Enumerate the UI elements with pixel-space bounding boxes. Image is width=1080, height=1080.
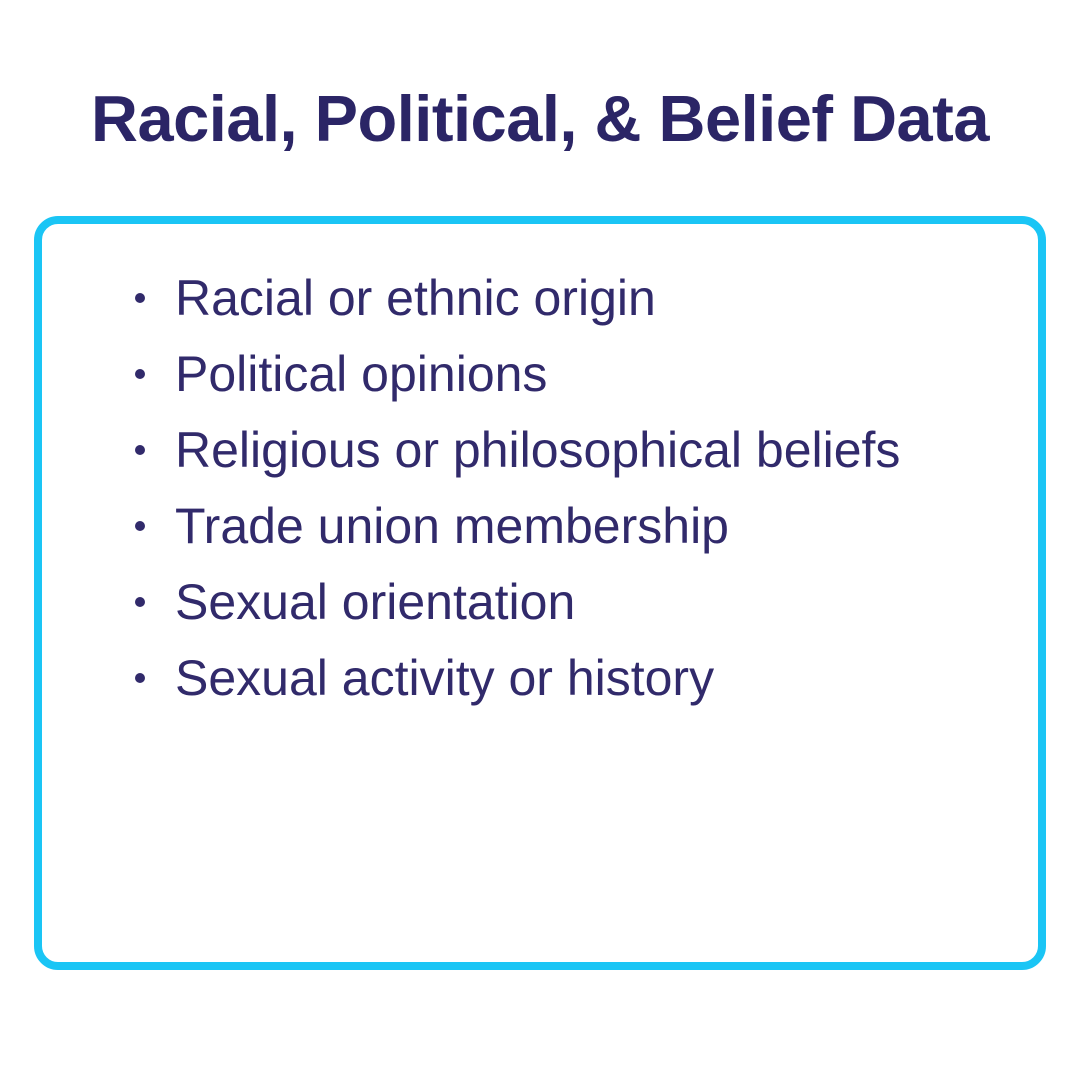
bullet-dot-icon <box>135 293 145 303</box>
bullet-dot-icon <box>135 369 145 379</box>
content-card: Racial or ethnic origin Political opinio… <box>34 216 1046 970</box>
bullet-dot-icon <box>135 673 145 683</box>
bullet-list: Racial or ethnic origin Political opinio… <box>131 260 1011 716</box>
page-title: Racial, Political, & Belief Data <box>0 86 1080 151</box>
list-item-label: Sexual orientation <box>175 564 575 640</box>
bullet-dot-icon <box>135 521 145 531</box>
list-item: Trade union membership <box>131 488 1011 564</box>
list-item: Sexual orientation <box>131 564 1011 640</box>
slide-canvas: Racial, Political, & Belief Data Racial … <box>0 0 1080 1080</box>
list-item-label: Religious or philosophical beliefs <box>175 412 900 488</box>
list-item-label: Sexual activity or history <box>175 640 714 716</box>
list-item-label: Racial or ethnic origin <box>175 260 656 336</box>
list-item: Racial or ethnic origin <box>131 260 1011 336</box>
list-item: Political opinions <box>131 336 1011 412</box>
bullet-dot-icon <box>135 597 145 607</box>
list-item: Sexual activity or history <box>131 640 1011 716</box>
bullet-dot-icon <box>135 445 145 455</box>
list-item-label: Political opinions <box>175 336 547 412</box>
list-item-label: Trade union membership <box>175 488 729 564</box>
list-item: Religious or philosophical beliefs <box>131 412 1011 488</box>
